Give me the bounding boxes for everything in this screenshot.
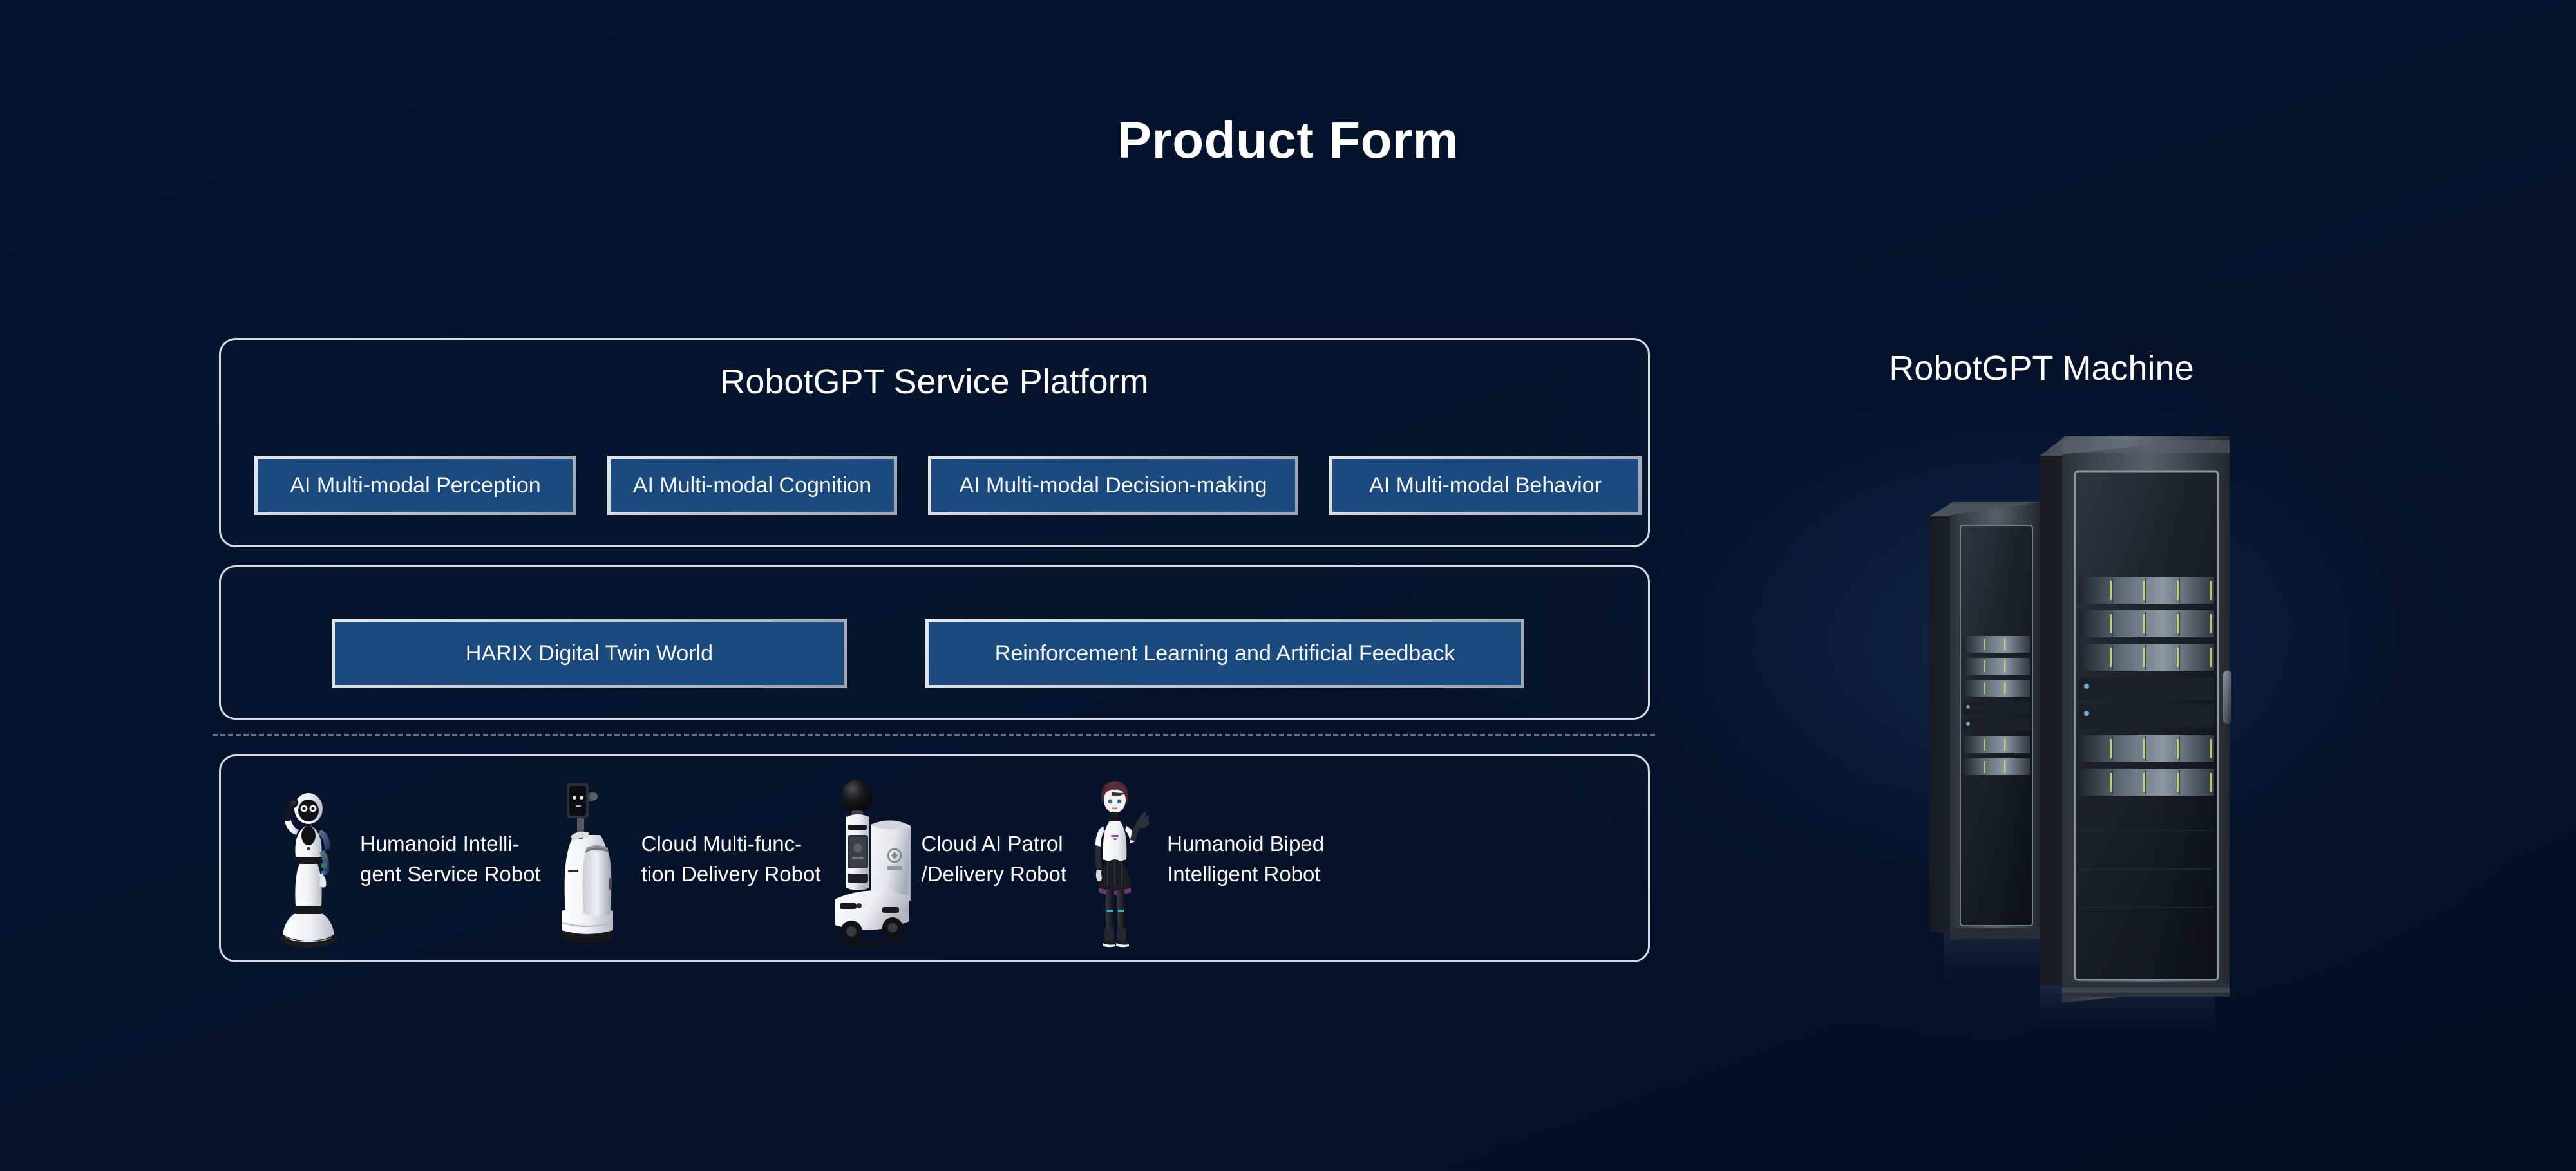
core-module-button-row: HARIX Digital Twin World Reinforcement L… xyxy=(332,619,1524,688)
slide-root: Product Form RobotGPT Service Platform A… xyxy=(0,0,2576,1171)
platform-heading: RobotGPT Service Platform xyxy=(221,364,1648,399)
capability-button-decision-making[interactable]: AI Multi-modal Decision-making xyxy=(928,456,1298,515)
svg-text:⬚ ⬚ ⬚: ⬚ ⬚ ⬚ xyxy=(571,923,586,928)
robot-label-line2: Intelligent Robot xyxy=(1167,859,1324,890)
page-title: Product Form xyxy=(0,115,2576,166)
capability-button-cognition[interactable]: AI Multi-modal Cognition xyxy=(607,456,897,515)
robot-label-line1: Cloud AI Patrol xyxy=(921,829,1066,859)
panel-service-platform: RobotGPT Service Platform AI Multi-modal… xyxy=(219,338,1650,547)
robot-label-line1: Humanoid Intelli- xyxy=(360,829,541,859)
capability-button-perception[interactable]: AI Multi-modal Perception xyxy=(254,456,576,515)
panel-core-modules: HARIX Digital Twin World Reinforcement L… xyxy=(219,565,1650,720)
robot-product-patrol-delivery[interactable]: Cloud AI Patrol /Delivery Robot xyxy=(820,771,1066,951)
panel-robot-products: Humanoid Intelli- gent Service Robot xyxy=(219,754,1650,962)
robot-label-line1: Humanoid Biped xyxy=(1167,829,1324,859)
robot-product-label: Humanoid Intelli- gent Service Robot xyxy=(360,829,541,892)
biped-humanoid-robot-icon xyxy=(1066,773,1163,948)
core-module-button-harix-digital-twin[interactable]: HARIX Digital Twin World xyxy=(332,619,847,688)
robot-product-label: Cloud AI Patrol /Delivery Robot xyxy=(921,829,1066,892)
patrol-delivery-robot-icon xyxy=(820,773,917,948)
section-divider xyxy=(213,734,1655,736)
humanoid-service-robot-icon xyxy=(260,773,356,948)
core-module-button-reinforcement-learning[interactable]: Reinforcement Learning and Artificial Fe… xyxy=(925,619,1524,688)
capability-label: AI Multi-modal Perception xyxy=(290,473,540,498)
capability-button-behavior[interactable]: AI Multi-modal Behavior xyxy=(1329,456,1642,515)
core-module-label: HARIX Digital Twin World xyxy=(466,641,713,666)
capability-label: AI Multi-modal Behavior xyxy=(1369,473,1602,498)
capability-label: AI Multi-modal Cognition xyxy=(633,473,871,498)
capability-label: AI Multi-modal Decision-making xyxy=(959,473,1267,498)
capability-button-row: AI Multi-modal Perception AI Multi-modal… xyxy=(254,456,1642,515)
robot-label-line2: /Delivery Robot xyxy=(921,859,1066,890)
core-module-label: Reinforcement Learning and Artificial Fe… xyxy=(995,641,1455,666)
robot-label-line1: Cloud Multi-func- xyxy=(641,829,821,859)
robot-label-line2: tion Delivery Robot xyxy=(641,859,821,890)
robot-product-cloud-delivery[interactable]: ⬚ ⬚ ⬚ Cloud Multi-func- tion Delivery Ro… xyxy=(541,771,821,951)
robot-product-label: Cloud Multi-func- tion Delivery Robot xyxy=(641,829,821,892)
robot-product-humanoid-service[interactable]: Humanoid Intelli- gent Service Robot xyxy=(260,771,541,951)
server-rack-icon xyxy=(1906,418,2254,1030)
robot-product-row: Humanoid Intelli- gent Service Robot xyxy=(260,771,1612,951)
robot-product-biped-humanoid[interactable]: Humanoid Biped Intelligent Robot xyxy=(1066,771,1324,951)
machine-heading: RobotGPT Machine xyxy=(1803,351,2280,386)
robot-label-line2: gent Service Robot xyxy=(360,859,541,890)
robot-product-label: Humanoid Biped Intelligent Robot xyxy=(1167,829,1324,892)
cloud-delivery-robot-icon: ⬚ ⬚ ⬚ xyxy=(541,773,638,948)
